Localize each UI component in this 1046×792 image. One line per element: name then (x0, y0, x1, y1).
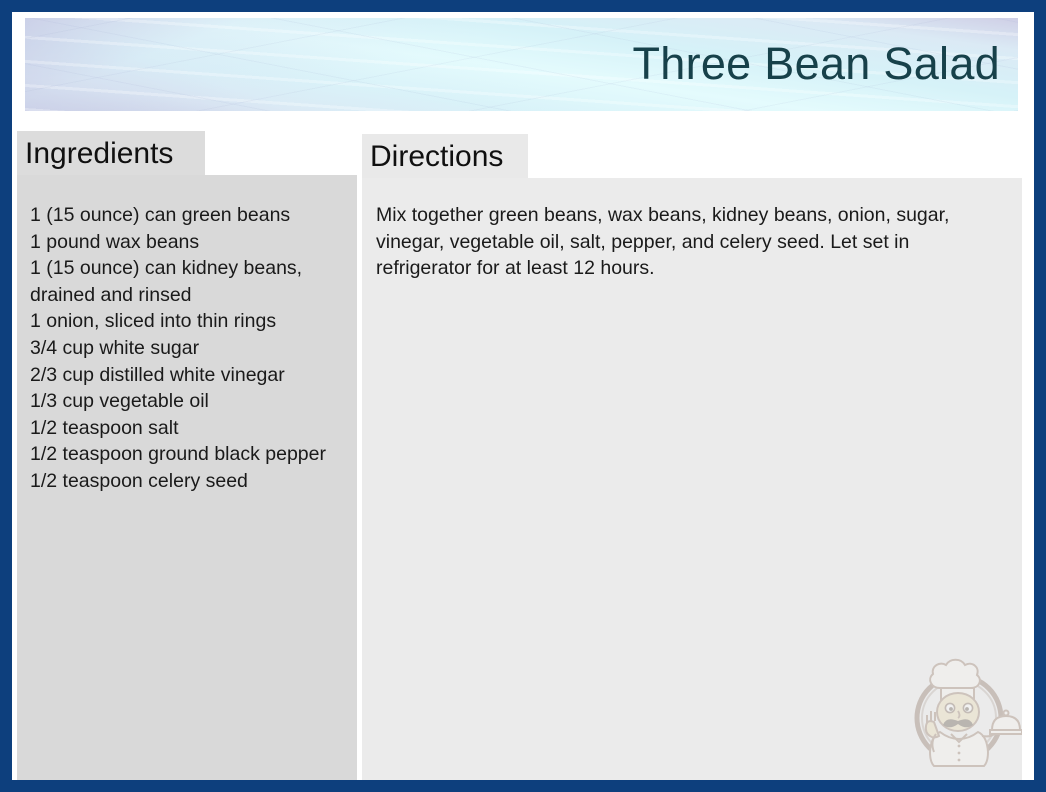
list-item: 1 (15 ounce) can green beans (30, 202, 354, 229)
recipe-card: Three Bean Salad (0, 0, 1046, 792)
list-item: 1 onion, sliced into thin rings (30, 308, 354, 335)
ingredients-panel: 1 (15 ounce) can green beans 1 pound wax… (17, 175, 362, 780)
directions-heading: Directions (362, 134, 528, 180)
list-item: 1 pound wax beans (30, 229, 354, 256)
title-banner: Three Bean Salad (25, 18, 1018, 111)
list-item: 1/2 teaspoon salt (30, 415, 354, 442)
list-item: 1/2 teaspoon ground black pepper (30, 441, 354, 468)
ingredients-list: 1 (15 ounce) can green beans 1 pound wax… (30, 202, 354, 495)
list-item: 1/2 teaspoon celery seed (30, 468, 354, 495)
directions-text: Mix together green beans, wax beans, kid… (376, 202, 1004, 282)
list-item: 2/3 cup distilled white vinegar (30, 362, 354, 389)
list-item: 3/4 cup white sugar (30, 335, 354, 362)
list-item: 1 (15 ounce) can kidney beans, drained a… (30, 255, 354, 308)
list-item: 1/3 cup vegetable oil (30, 388, 354, 415)
page-surface: Three Bean Salad (12, 12, 1034, 780)
page-title: Three Bean Salad (632, 37, 1000, 89)
ingredients-heading: Ingredients (17, 131, 205, 177)
directions-panel: Mix together green beans, wax beans, kid… (362, 178, 1022, 780)
